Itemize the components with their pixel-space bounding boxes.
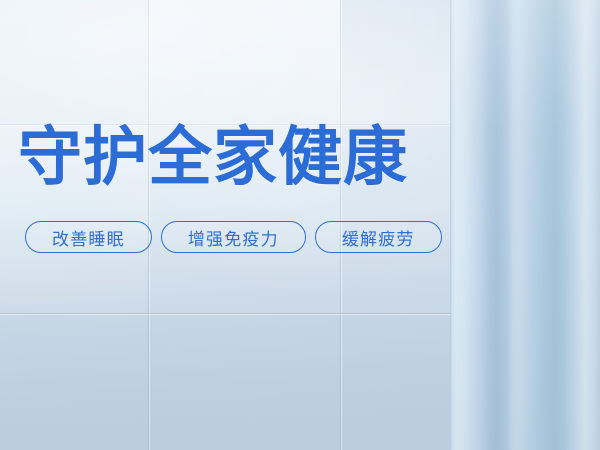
wall-tile-top-right: [341, 0, 451, 124]
benefit-tag-label: 缓解疲劳: [342, 225, 415, 250]
benefit-tag-label: 改善睡眠: [52, 225, 125, 250]
page-title: 守护全家健康: [18, 122, 408, 192]
pillar-left-edge-shadow: [450, 0, 452, 450]
wall-tile-top-center: [149, 0, 340, 124]
benefit-tag-sleep[interactable]: 改善睡眠: [25, 221, 152, 253]
pillar-vertical-sheen: [450, 0, 600, 450]
benefit-tag-row: 改善睡眠 增强免疫力 缓解疲劳: [25, 221, 442, 253]
health-promo-banner: 守护全家健康 改善睡眠 增强免疫力 缓解疲劳: [0, 0, 600, 450]
wall-tile-bottom-row: [0, 314, 451, 450]
benefit-tag-immunity[interactable]: 增强免疫力: [161, 221, 306, 253]
benefit-tag-label: 增强免疫力: [188, 225, 279, 250]
benefit-tag-fatigue[interactable]: 缓解疲劳: [315, 221, 442, 253]
glossy-pillar-decoration: [450, 0, 600, 450]
